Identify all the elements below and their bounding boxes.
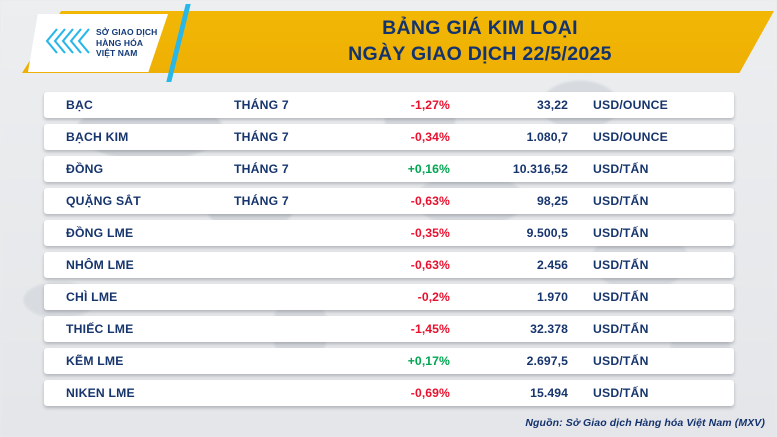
row-price-unit: USD/TẤN bbox=[572, 194, 722, 208]
row-price-value: 15.494 bbox=[450, 386, 572, 400]
row-contract-month: THÁNG 7 bbox=[234, 162, 382, 176]
row-price-value: 98,25 bbox=[450, 194, 572, 208]
row-change-percent: +0,16% bbox=[382, 162, 450, 176]
row-price-value: 10.316,52 bbox=[450, 162, 572, 176]
row-price-value: 33,22 bbox=[450, 98, 572, 112]
row-contract-month: THÁNG 7 bbox=[234, 130, 382, 144]
row-change-percent: -0,2% bbox=[382, 290, 450, 304]
source-note: Nguồn: Sở Giao dịch Hàng hóa Việt Nam (M… bbox=[525, 417, 765, 429]
row-commodity-name: CHÌ LME bbox=[44, 290, 234, 304]
table-row: QUẶNG SẮTTHÁNG 7-0,63%98,25USD/TẤN bbox=[44, 188, 734, 214]
row-change-percent: -0,34% bbox=[382, 130, 450, 144]
metal-price-table: BẠCTHÁNG 7-1,27%33,22USD/OUNCEBẠCH KIMTH… bbox=[44, 92, 734, 412]
table-row: CHÌ LME-0,2%1.970USD/TẤN bbox=[44, 284, 734, 310]
row-price-value: 9.500,5 bbox=[450, 226, 572, 240]
page-title: BẢNG GIÁ KIM LOẠI NGÀY GIAO DỊCH 22/5/20… bbox=[200, 16, 760, 68]
table-row: NIKEN LME-0,69%15.494USD/TẤN bbox=[44, 380, 734, 406]
row-price-value: 32.378 bbox=[450, 322, 572, 336]
logo-text-line-1: SỞ GIAO DỊCH bbox=[96, 27, 157, 37]
row-price-unit: USD/TẤN bbox=[572, 226, 722, 240]
row-contract-month: THÁNG 7 bbox=[234, 98, 382, 112]
table-row: KẼM LME+0,17%2.697,5USD/TẤN bbox=[44, 348, 734, 374]
row-price-unit: USD/TẤN bbox=[572, 322, 722, 336]
row-commodity-name: NHÔM LME bbox=[44, 258, 234, 272]
row-change-percent: -1,45% bbox=[382, 322, 450, 336]
row-price-unit: USD/TẤN bbox=[572, 290, 722, 304]
row-change-percent: +0,17% bbox=[382, 354, 450, 368]
row-contract-month: THÁNG 7 bbox=[234, 194, 382, 208]
table-row: THIẾC LME-1,45%32.378USD/TẤN bbox=[44, 316, 734, 342]
row-price-unit: USD/TẤN bbox=[572, 162, 722, 176]
row-price-unit: USD/TẤN bbox=[572, 258, 722, 272]
row-commodity-name: NIKEN LME bbox=[44, 386, 234, 400]
logo-text-line-3: VIỆT NAM bbox=[96, 48, 137, 58]
row-commodity-name: BẠC bbox=[44, 98, 234, 112]
row-change-percent: -1,27% bbox=[382, 98, 450, 112]
row-price-value: 2.456 bbox=[450, 258, 572, 272]
row-commodity-name: ĐỒNG LME bbox=[44, 226, 234, 240]
row-price-value: 1.080,7 bbox=[450, 130, 572, 144]
row-price-unit: USD/TẤN bbox=[572, 386, 722, 400]
table-row: BẠCH KIMTHÁNG 7-0,34%1.080,7USD/OUNCE bbox=[44, 124, 734, 150]
row-change-percent: -0,63% bbox=[382, 194, 450, 208]
row-commodity-name: THIẾC LME bbox=[44, 322, 234, 336]
row-commodity-name: QUẶNG SẮT bbox=[44, 194, 234, 208]
row-change-percent: -0,35% bbox=[382, 226, 450, 240]
table-row: ĐỒNGTHÁNG 7+0,16%10.316,52USD/TẤN bbox=[44, 156, 734, 182]
row-price-value: 1.970 bbox=[450, 290, 572, 304]
logo-text-line-2: HÀNG HÓA bbox=[96, 38, 143, 48]
page-title-line-1: BẢNG GIÁ KIM LOẠI bbox=[200, 16, 760, 42]
row-commodity-name: KẼM LME bbox=[44, 354, 234, 368]
table-row: NHÔM LME-0,63%2.456USD/TẤN bbox=[44, 252, 734, 278]
table-row: BẠCTHÁNG 7-1,27%33,22USD/OUNCE bbox=[44, 92, 734, 118]
table-row: ĐỒNG LME-0,35%9.500,5USD/TẤN bbox=[44, 220, 734, 246]
row-commodity-name: BẠCH KIM bbox=[44, 130, 234, 144]
row-price-unit: USD/OUNCE bbox=[572, 98, 722, 112]
row-change-percent: -0,69% bbox=[382, 386, 450, 400]
logo-panel: SỞ GIAO DỊCH HÀNG HÓA VIỆT NAM bbox=[28, 14, 168, 72]
row-price-value: 2.697,5 bbox=[450, 354, 572, 368]
page-title-line-2: NGÀY GIAO DỊCH 22/5/2025 bbox=[200, 42, 760, 68]
row-price-unit: USD/OUNCE bbox=[572, 130, 722, 144]
header-banner: SỞ GIAO DỊCH HÀNG HÓA VIỆT NAM BẢNG GIÁ … bbox=[0, 0, 777, 84]
row-price-unit: USD/TẤN bbox=[572, 354, 722, 368]
row-change-percent: -0,63% bbox=[382, 258, 450, 272]
row-commodity-name: ĐỒNG bbox=[44, 162, 234, 176]
logo-wordmark: SỞ GIAO DỊCH HÀNG HÓA VIỆT NAM bbox=[96, 27, 157, 59]
mxv-chevron-logo-icon bbox=[44, 26, 90, 61]
